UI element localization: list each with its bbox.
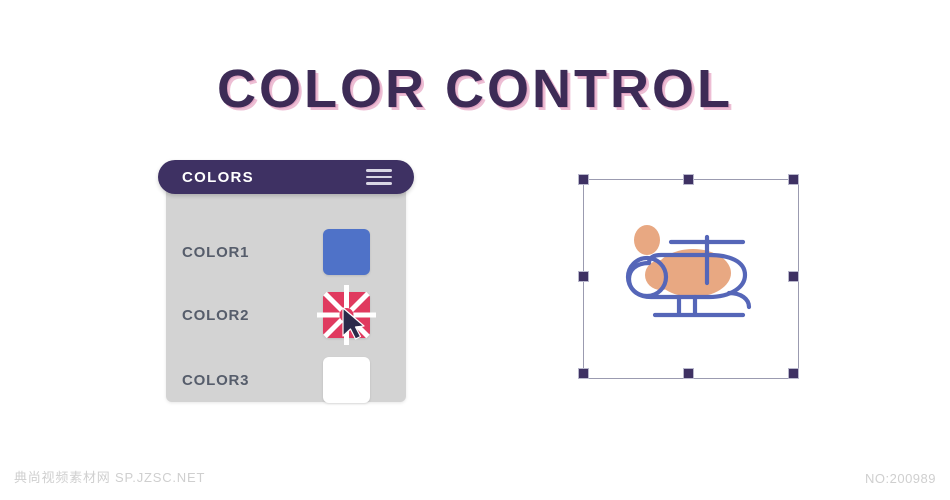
watermark-left: 典尚视频素材网 SP.JZSC.NET bbox=[14, 467, 205, 486]
selection-handle-bottom-left[interactable] bbox=[578, 368, 589, 379]
color-row-1-label: COLOR1 bbox=[182, 244, 249, 261]
selection-handle-bottom-center[interactable] bbox=[683, 368, 694, 379]
colors-panel-body: COLOR1 COLOR2 bbox=[166, 174, 406, 402]
colors-panel: COLOR1 COLOR2 bbox=[166, 160, 406, 402]
colors-panel-header: COLORS bbox=[158, 160, 414, 194]
color-row-3[interactable]: COLOR3 bbox=[166, 352, 406, 408]
page-title: COLOR CONTROL bbox=[0, 58, 950, 120]
color-swatch-2[interactable] bbox=[323, 292, 370, 338]
hamburger-icon[interactable] bbox=[366, 169, 392, 185]
color-swatch-3[interactable] bbox=[323, 357, 370, 403]
canvas-selection-group[interactable] bbox=[583, 179, 799, 379]
arrow-cursor-icon bbox=[341, 306, 367, 340]
selection-handle-top-right[interactable] bbox=[788, 174, 799, 185]
helicopter-illustration[interactable] bbox=[613, 225, 773, 335]
selection-handle-middle-right[interactable] bbox=[788, 271, 799, 282]
watermark-right: NO:200989 bbox=[865, 471, 936, 486]
selection-handle-middle-left[interactable] bbox=[578, 271, 589, 282]
color-row-1[interactable]: COLOR1 bbox=[166, 224, 406, 280]
selection-handle-bottom-right[interactable] bbox=[788, 368, 799, 379]
selection-handle-top-left[interactable] bbox=[578, 174, 589, 185]
color-swatch-1[interactable] bbox=[323, 229, 370, 275]
color-row-2-label: COLOR2 bbox=[182, 307, 249, 324]
color-row-3-label: COLOR3 bbox=[182, 372, 249, 389]
color-row-2[interactable]: COLOR2 bbox=[166, 287, 406, 343]
colors-panel-title: COLORS bbox=[182, 169, 254, 186]
click-burst-effect bbox=[314, 283, 379, 347]
selection-handle-top-center[interactable] bbox=[683, 174, 694, 185]
